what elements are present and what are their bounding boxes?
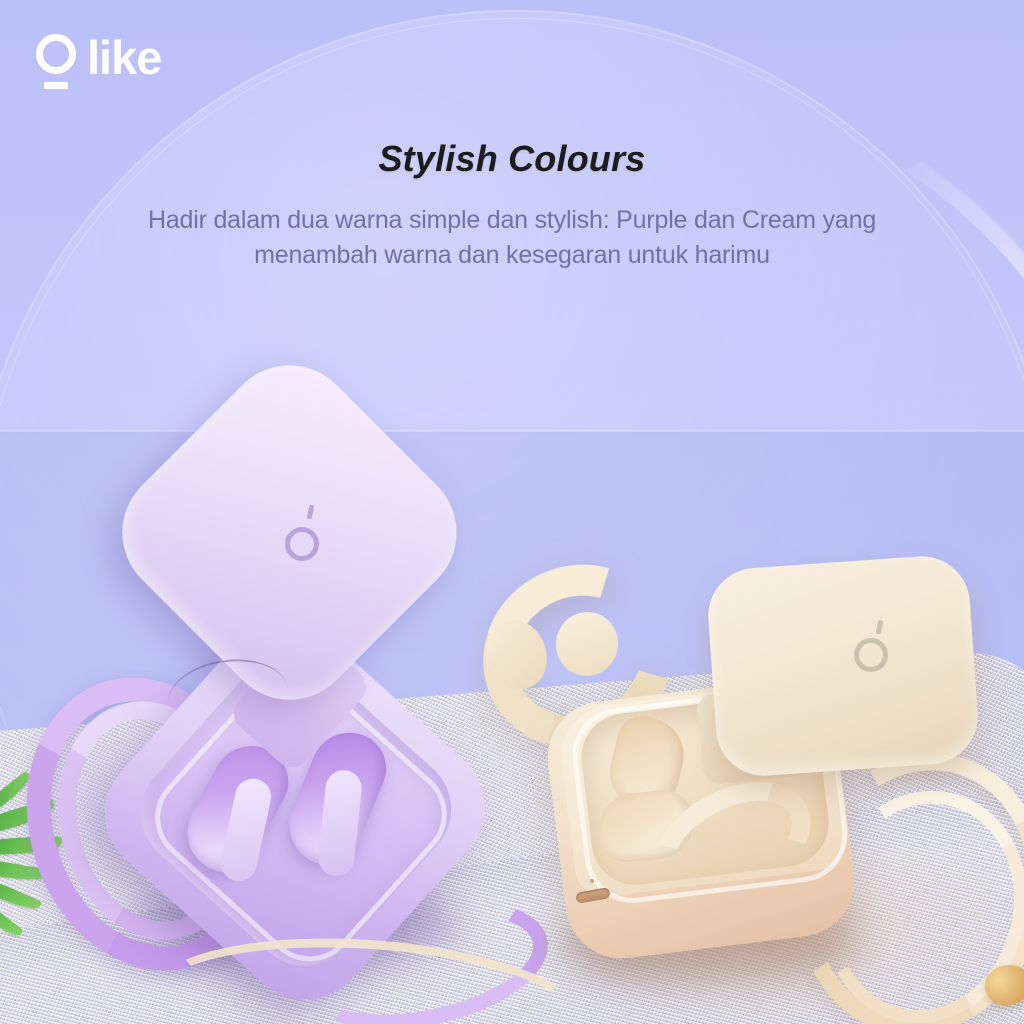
lid-logo-ring-icon <box>285 527 319 561</box>
brand-logo[interactable]: like <box>36 32 161 92</box>
cream-lid-olike-o-mark-icon <box>852 620 904 672</box>
logo-ring-icon <box>36 34 76 74</box>
olike-o-mark-icon <box>36 32 78 92</box>
lid-logo-ring-icon <box>854 638 888 672</box>
promo-banner: like Stylish Colours Hadir dalam dua war… <box>0 0 1024 1024</box>
lid-logo-tick-icon <box>876 620 884 635</box>
background-band-edge <box>0 430 1024 433</box>
logo-bar-icon <box>44 82 68 89</box>
cream-case-lid <box>705 553 981 779</box>
lid-logo-tick-icon <box>307 505 315 520</box>
page-title: Stylish Colours <box>0 138 1024 180</box>
status-led <box>590 879 594 883</box>
purple-lid-olike-o-mark-icon <box>283 505 339 561</box>
brand-wordmark: like <box>87 34 161 81</box>
page-subtitle: Hadir dalam dua warna simple dan stylish… <box>112 203 912 272</box>
